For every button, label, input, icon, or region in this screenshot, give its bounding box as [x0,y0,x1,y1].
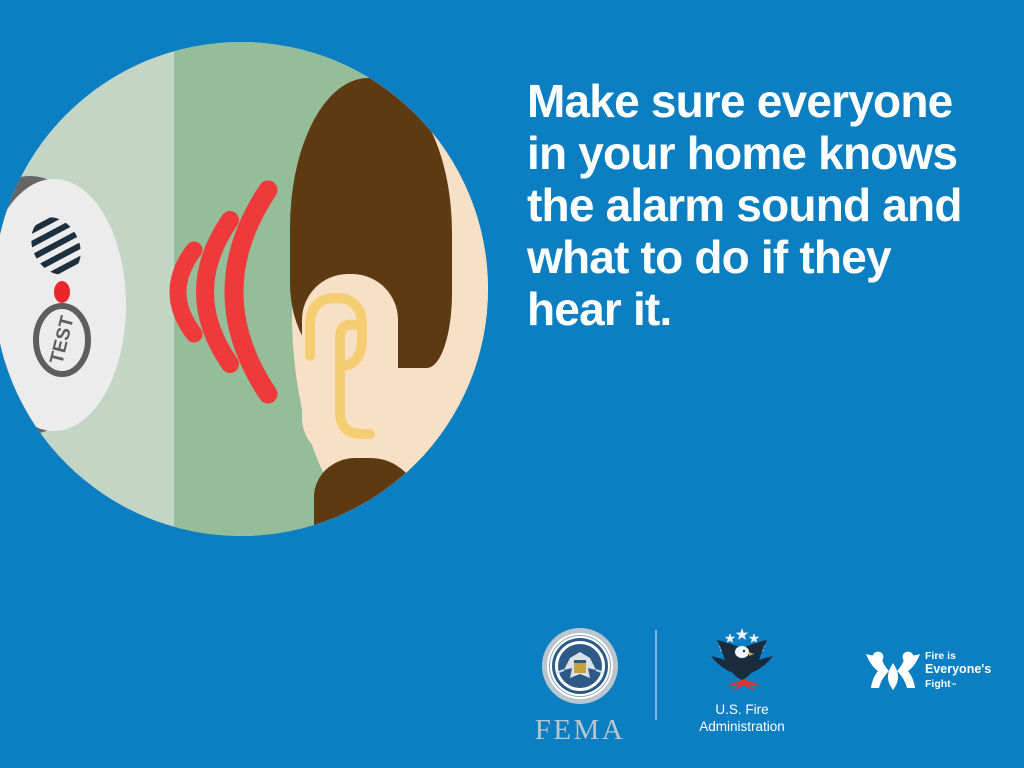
fief-line-1: Fire is [925,650,991,663]
illustration-circle: TEST [0,42,488,536]
footer-logo-row: FEMA [500,626,1010,736]
sound-wave-icon [150,172,290,412]
fief-line-2: Everyone's [925,662,991,677]
usfa-logo: U.S. Fire Administration [672,626,812,736]
fief-trademark: ™ [951,683,957,689]
fire-safety-poster: TEST Make sure everyone in your home kno… [0,0,1024,768]
ear-detail-icon [300,282,384,452]
headline-line-3: the alarm sound and [527,180,997,232]
smoke-alarm-icon: TEST [0,170,138,440]
fief-people-icon [865,648,921,692]
fief-logo: Fire is Everyone's Fight™ [865,648,1015,692]
fief-line-3-wrap: Fight™ [925,678,991,691]
usfa-wordmark: U.S. Fire Administration [672,702,812,736]
usfa-line-1: U.S. Fire [672,702,812,719]
dhs-seal-icon [540,626,620,706]
fema-logo: FEMA [520,626,640,747]
fema-wordmark: FEMA [520,714,640,747]
headline-line-1: Make sure everyone [527,76,997,128]
usfa-eagle-icon [703,626,781,692]
hair-back [314,458,418,536]
headline-line-2: in your home knows [527,128,997,180]
person-head [284,60,488,536]
fief-row: Fire is Everyone's Fight™ [865,648,1015,692]
logo-divider [655,630,657,720]
headline-line-4: what to do if they [527,232,997,284]
fief-wordmark: Fire is Everyone's Fight™ [925,650,991,691]
page-headline: Make sure everyone in your home knows th… [527,76,997,336]
fief-line-3: Fight [925,678,951,690]
headline-line-5: hear it. [527,284,997,336]
usfa-line-2: Administration [672,719,812,736]
